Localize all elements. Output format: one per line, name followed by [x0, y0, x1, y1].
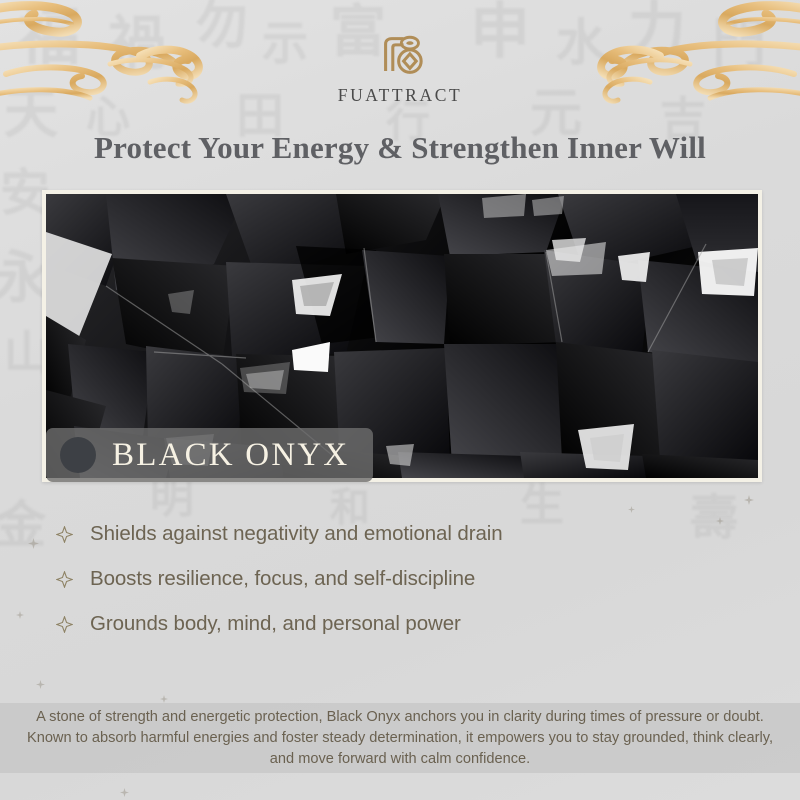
poster-canvas: 福 禍 勿 示 富 申 水 力 門 天 心 田 行 元 吉 安 永 山 金 明 … — [0, 0, 800, 800]
sparkle-icon — [16, 606, 24, 624]
list-item-label: Grounds body, mind, and personal power — [90, 612, 461, 636]
watermark-character: 金 — [0, 500, 46, 550]
footer-description-bar: A stone of strength and energetic protec… — [0, 703, 800, 773]
footer-description: A stone of strength and energetic protec… — [26, 707, 774, 770]
sparkle-icon — [628, 500, 635, 518]
stone-color-swatch — [60, 437, 96, 473]
brand-header: FUATTRACT — [0, 26, 800, 106]
stone-name: BLACK ONYX — [112, 439, 349, 472]
four-pointed-star-icon — [56, 526, 73, 543]
sparkle-icon — [744, 492, 754, 510]
list-item-label: Shields against negativity and emotional… — [90, 522, 503, 546]
list-item: Shields against negativity and emotional… — [56, 522, 716, 546]
sparkle-icon — [36, 676, 45, 694]
list-item: Grounds body, mind, and personal power — [56, 612, 716, 636]
four-pointed-star-icon — [56, 616, 73, 633]
sparkle-icon — [120, 784, 129, 800]
benefits-list: Shields against negativity and emotional… — [56, 522, 716, 636]
brand-name: FUATTRACT — [338, 85, 463, 106]
fuattract-logo-icon — [373, 26, 427, 80]
watermark-character: 明 — [150, 476, 194, 520]
page-title: Protect Your Energy & Strengthen Inner W… — [0, 130, 800, 166]
stone-name-badge: BLACK ONYX — [46, 428, 373, 482]
list-item-label: Boosts resilience, focus, and self-disci… — [90, 567, 475, 591]
four-pointed-star-icon — [56, 571, 73, 588]
list-item: Boosts resilience, focus, and self-disci… — [56, 567, 716, 591]
